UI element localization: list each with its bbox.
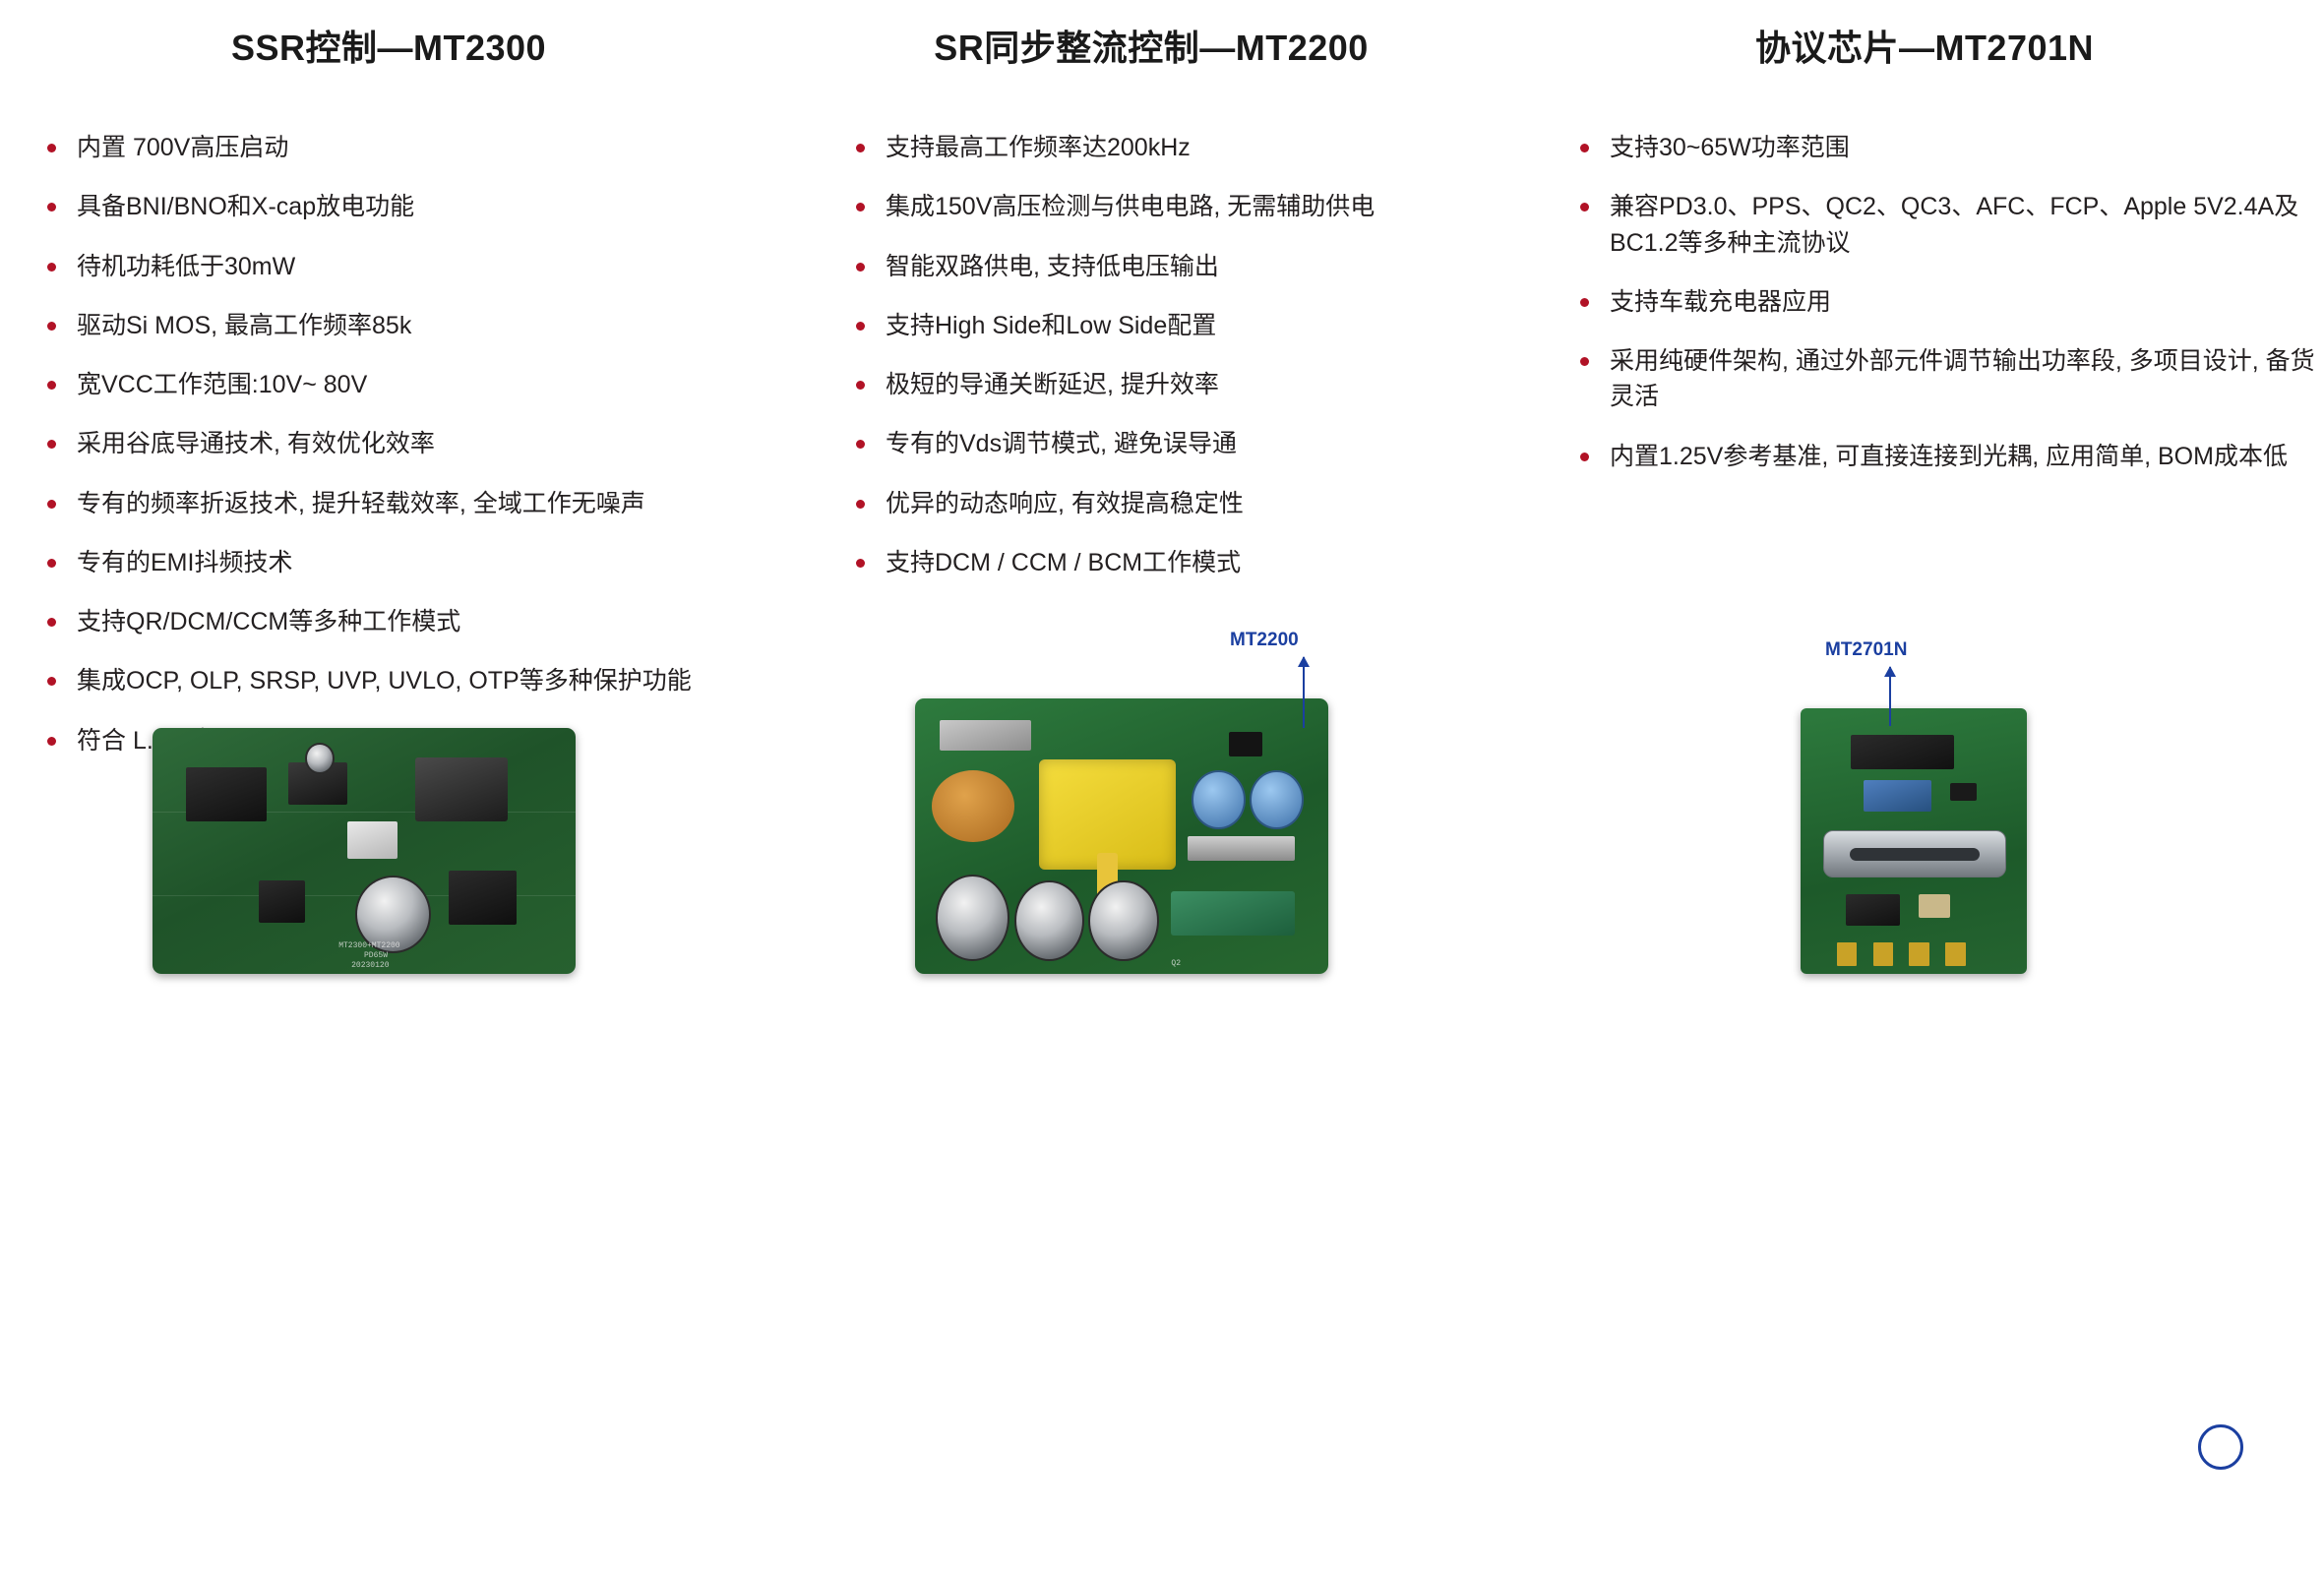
column-2-title: SR同步整流控制—MT2200 — [777, 20, 1525, 71]
small-capacitor — [305, 743, 335, 774]
fuse-component — [940, 720, 1030, 751]
callout-label-mt2300: MT2300 — [600, 1540, 669, 1561]
chip-mt2200 — [1229, 732, 1262, 756]
list-item: 支持High Side和Low Side配置 — [848, 308, 1527, 343]
list-item: 采用谷底导通技术, 有效优化效率 — [39, 426, 728, 461]
list-item: 内置1.25V参考基准, 可直接连接到光耦, 应用简单, BOM成本低 — [1572, 439, 2320, 474]
solder-pad — [1909, 942, 1929, 966]
list-item: 内置 700V高压启动 — [39, 130, 728, 165]
silkscreen-text: PD65W — [364, 951, 388, 960]
feature-list-mt2701n: 支持30~65W功率范围 兼容PD3.0、PPS、QC2、QC3、AFC、FCP… — [1572, 130, 2320, 498]
callout-arrow-mt2701n — [1889, 667, 1891, 726]
solder-pad — [1945, 942, 1966, 966]
pcb-photo-mt2701n — [1801, 708, 2027, 974]
output-connector — [1171, 891, 1295, 936]
chip-mt2300 — [347, 821, 398, 859]
feature-list-mt2200: 支持最高工作频率达200kHz 集成150V高压检测与供电电路, 无需辅助供电 … — [848, 130, 1527, 604]
usb-c-connector — [1823, 830, 2006, 877]
heatsink — [1188, 836, 1295, 861]
electrolytic-capacitor — [1088, 880, 1158, 961]
mosfet — [259, 880, 305, 923]
common-mode-choke — [932, 770, 1014, 842]
solder-pad — [1873, 942, 1894, 966]
list-item: 支持DCM / CCM / BCM工作模式 — [848, 545, 1527, 580]
smd-capacitor — [1919, 894, 1950, 918]
transformer — [415, 757, 509, 821]
list-item: 集成OCP, OLP, SRSP, UVP, UVLO, OTP等多种保护功能 — [39, 663, 728, 698]
silkscreen-text: 20230120 — [351, 961, 389, 970]
list-item: 支持30~65W功率范围 — [1572, 130, 2320, 165]
list-item: 兼容PD3.0、PPS、QC2、QC3、AFC、FCP、Apple 5V2.4A… — [1572, 189, 2320, 261]
solder-pad — [1837, 942, 1858, 966]
callout-label-mt2701n: MT2701N — [1825, 639, 1907, 661]
inductor — [1864, 780, 1931, 812]
pcb-board-3 — [1801, 708, 2027, 974]
list-item: 支持车载充电器应用 — [1572, 284, 2320, 320]
list-item: 集成150V高压检测与供电电路, 无需辅助供电 — [848, 189, 1527, 224]
list-item: 具备BNI/BNO和X-cap放电功能 — [39, 189, 728, 224]
ic-package — [1851, 735, 1955, 769]
list-item: 智能双路供电, 支持低电压输出 — [848, 249, 1527, 284]
callout-arrow-mt2300 — [541, 1550, 595, 1552]
feature-list-mt2300: 内置 700V高压启动 具备BNI/BNO和X-cap放电功能 待机功耗低于30… — [39, 130, 728, 782]
list-item: 极短的导通关断延迟, 提升效率 — [848, 367, 1527, 402]
blue-capacitor — [1250, 770, 1303, 829]
silkscreen-text: Q2 — [1171, 959, 1181, 968]
slide-root: SSR控制—MT2300 内置 700V高压启动 具备BNI/BNO和X-cap… — [0, 0, 2324, 1062]
column-1-title: SSR控制—MT2300 — [0, 20, 777, 71]
silkscreen-text: MT2300+MT2200 — [338, 941, 399, 950]
pcb-photo-mt2300: MT2300+MT2200 PD65W 20230120 MT2300 — [153, 728, 576, 974]
callout-label-mt2200: MT2200 — [1230, 630, 1299, 651]
list-item: 专有的频率折返技术, 提升轻载效率, 全域工作无噪声 — [39, 486, 728, 521]
list-item: 专有的Vds调节模式, 避免误导通 — [848, 426, 1527, 461]
smd-resistor — [1950, 783, 1978, 802]
list-item: 待机功耗低于30mW — [39, 249, 728, 284]
ic-package — [1846, 894, 1900, 926]
column-3-title: 协议芯片—MT2701N — [1525, 20, 2324, 71]
list-item: 宽VCC工作范围:10V~ 80V — [39, 367, 728, 402]
list-item: 驱动Si MOS, 最高工作频率85k — [39, 308, 728, 343]
ic-package — [186, 767, 267, 821]
list-item: 优异的动态响应, 有效提高稳定性 — [848, 486, 1527, 521]
electrolytic-capacitor — [936, 875, 1009, 961]
pcb-board-1: MT2300+MT2200 PD65W 20230120 — [153, 728, 576, 974]
list-item: 采用纯硬件架构, 通过外部元件调节输出功率段, 多项目设计, 备货灵活 — [1572, 343, 2320, 415]
pcb-photo-mt2200: Q2 — [915, 698, 1328, 974]
callout-arrow-mt2200 — [1303, 657, 1305, 728]
highlight-ring-mt2200 — [2198, 1424, 2243, 1470]
mosfet — [449, 871, 517, 925]
electrolytic-capacitor — [1014, 880, 1084, 961]
list-item: 支持QR/DCM/CCM等多种工作模式 — [39, 604, 728, 639]
blue-capacitor — [1192, 770, 1245, 829]
list-item: 支持最高工作频率达200kHz — [848, 130, 1527, 165]
pcb-board-2: Q2 — [915, 698, 1328, 974]
list-item: 专有的EMI抖频技术 — [39, 545, 728, 580]
